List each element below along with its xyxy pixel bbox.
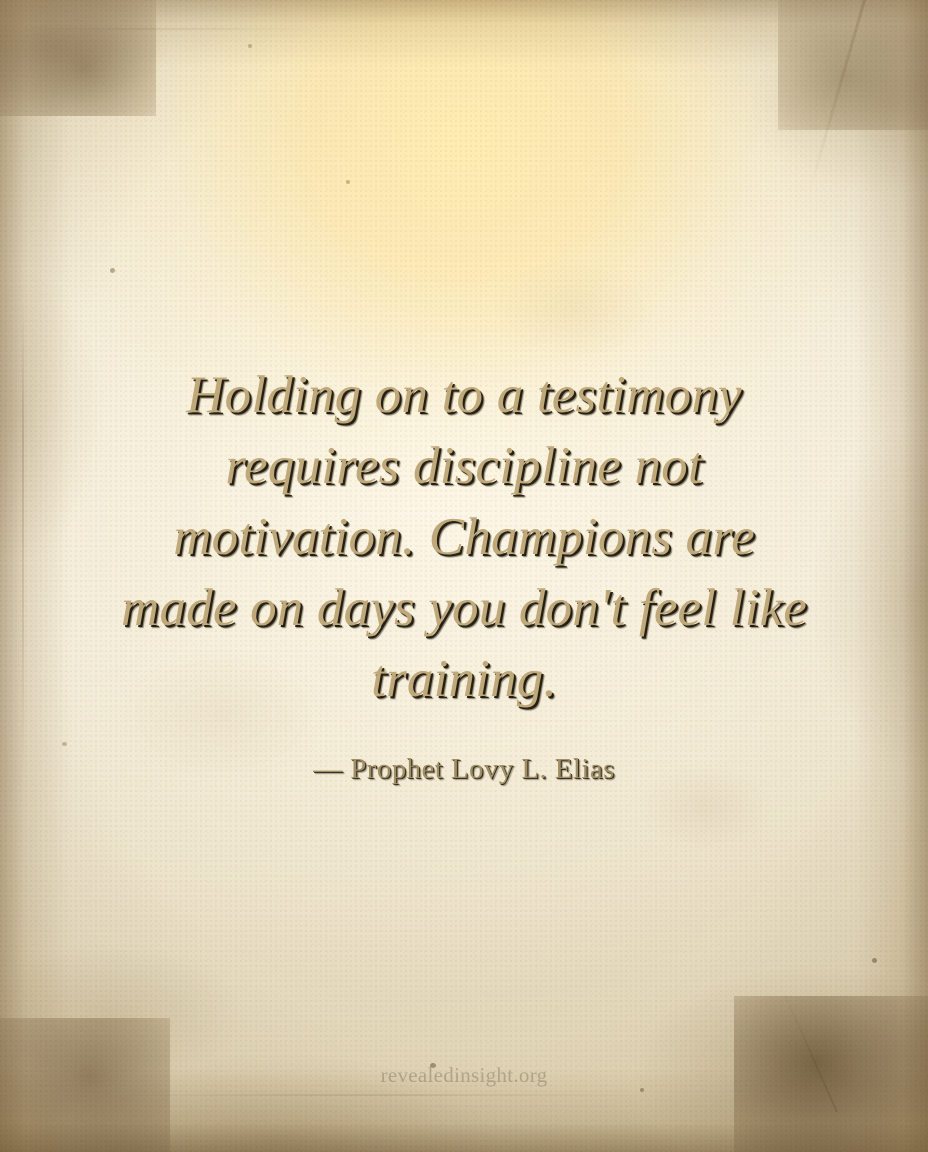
site-watermark: revealedinsight.org [0,1063,928,1088]
quote-card: Holding on to a testimony requires disci… [0,0,928,1152]
card-content: Holding on to a testimony requires disci… [0,0,928,1152]
quote-attribution: — Prophet Lovy L. Elias [0,750,928,788]
quote-text: Holding on to a testimony requires disci… [88,360,840,715]
quote-block: Holding on to a testimony requires disci… [88,360,840,715]
